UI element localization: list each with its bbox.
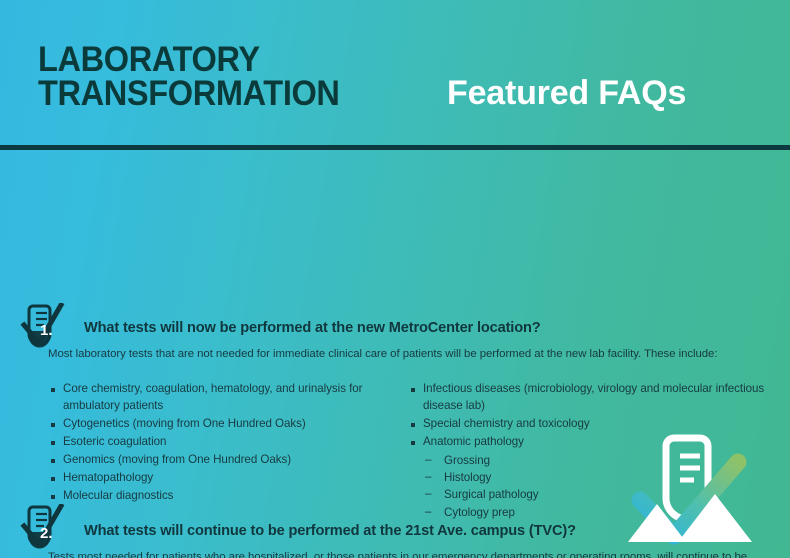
- page-subtitle: Featured FAQs: [447, 74, 686, 113]
- sub-list-item: Grossing: [408, 452, 768, 469]
- faq-1-anatomic-pathology-sublist: Grossing Histology Surgical pathology Cy…: [408, 452, 768, 522]
- list-item: Anatomic pathology: [408, 434, 768, 451]
- sub-list-item: Surgical pathology: [408, 486, 768, 503]
- list-item: Special chemistry and toxicology: [408, 416, 768, 433]
- list-item: Infectious diseases (microbiology, virol…: [408, 381, 768, 415]
- page-title: LABORATORY TRANSFORMATION: [38, 43, 340, 110]
- faq-intro-2: Tests most needed for patients who are h…: [48, 549, 778, 558]
- faq-1-left-list: Core chemistry, coagulation, hematology,…: [48, 381, 408, 521]
- faq-number-2: 2.: [40, 525, 53, 542]
- page-header: LABORATORY TRANSFORMATION Featured FAQs: [0, 0, 790, 146]
- sub-list-item: Histology: [408, 469, 768, 486]
- faq-1-right-list: Infectious diseases (microbiology, virol…: [408, 381, 768, 451]
- faq-intro-1: Most laboratory tests that are not neede…: [48, 346, 770, 362]
- list-item: Hematopathology: [48, 470, 408, 487]
- faq-1-columns: Core chemistry, coagulation, hematology,…: [48, 381, 790, 521]
- page-title-line2: TRANSFORMATION: [38, 77, 340, 111]
- faq-number-1: 1.: [40, 322, 53, 339]
- faq-question-1: What tests will now be performed at the …: [84, 320, 541, 336]
- faq-question-2: What tests will continue to be performed…: [84, 523, 576, 539]
- list-item: Cytogenetics (moving from One Hundred Oa…: [48, 416, 408, 433]
- sub-list-item: Cytology prep: [408, 504, 768, 521]
- list-item: Genomics (moving from One Hundred Oaks): [48, 452, 408, 469]
- list-item: Molecular diagnostics: [48, 488, 408, 505]
- header-divider: [0, 145, 790, 150]
- faq-1-right-column: Infectious diseases (microbiology, virol…: [408, 381, 768, 521]
- list-item: Esoteric coagulation: [48, 434, 408, 451]
- list-item: Core chemistry, coagulation, hematology,…: [48, 381, 408, 415]
